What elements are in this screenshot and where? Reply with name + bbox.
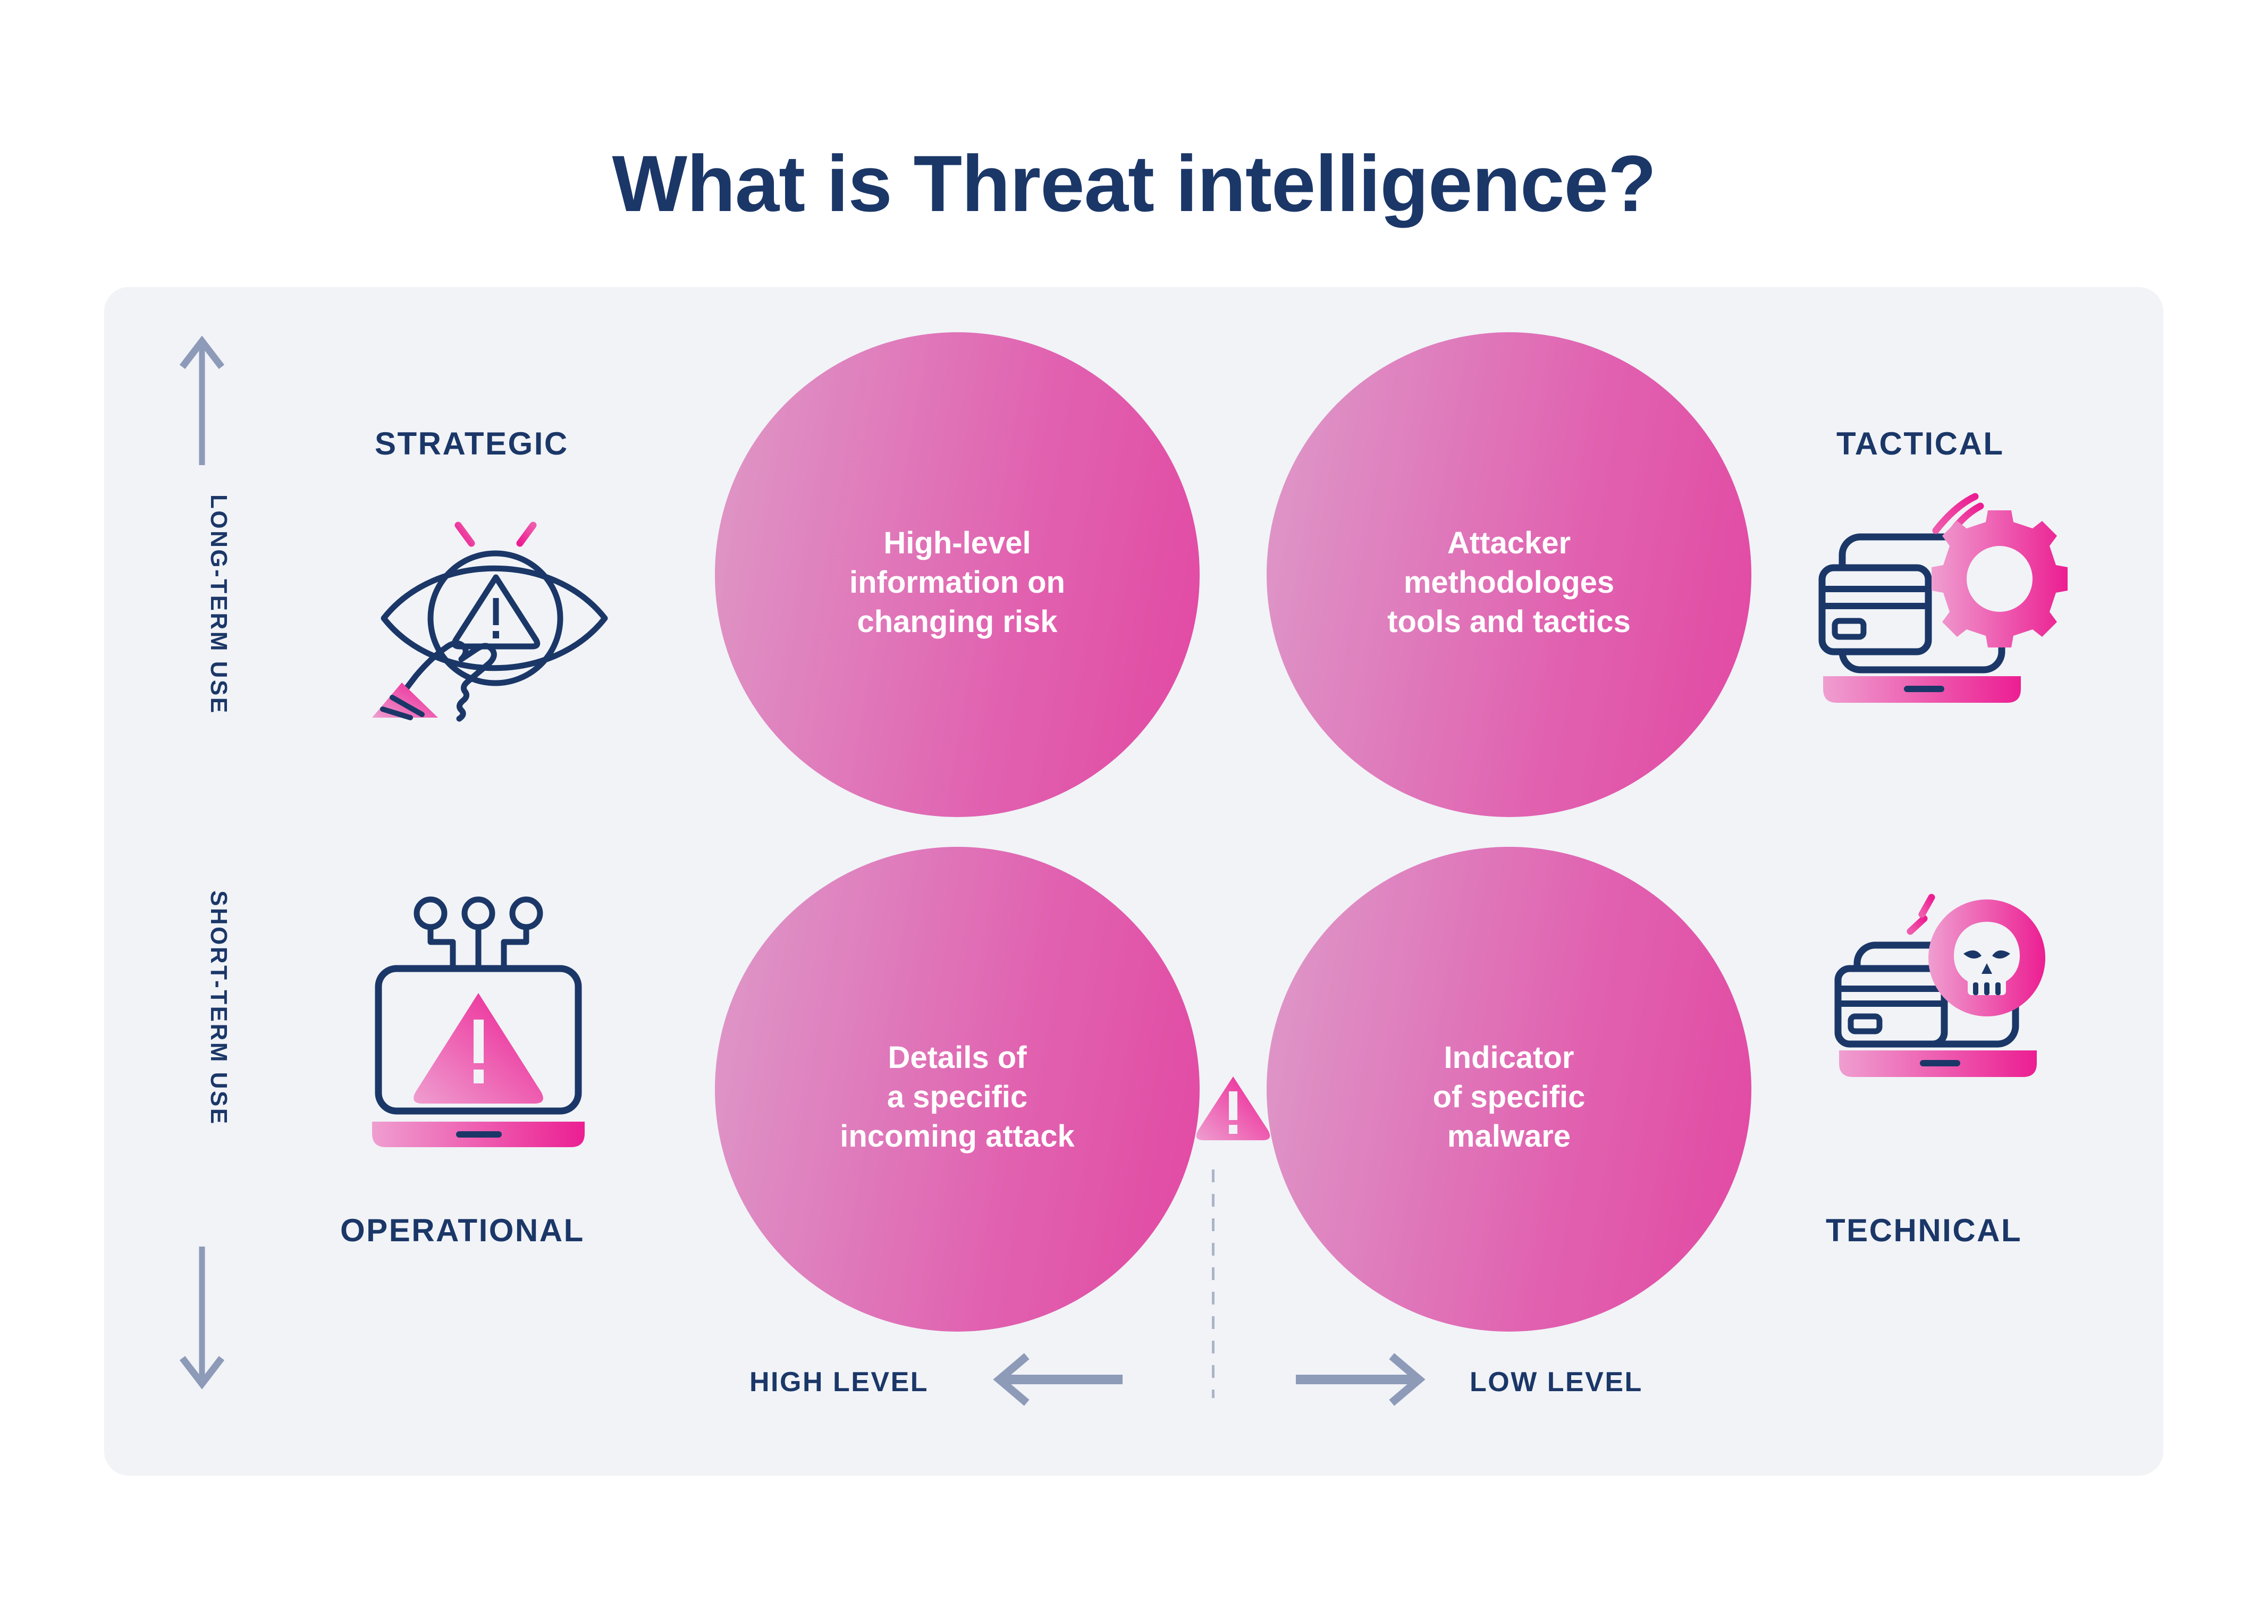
dashed-vertical-divider	[1212, 1169, 1215, 1398]
axis-label-low-level: LOW LEVEL	[1470, 1366, 1643, 1398]
quadrant-label-operational: OPERATIONAL	[340, 1212, 585, 1249]
axis-label-high-level: HIGH LEVEL	[749, 1366, 929, 1398]
warning-triangle-icon	[1183, 1055, 1284, 1156]
venn-circle-bottom-left[interactable]	[715, 847, 1200, 1332]
eye-warning-hand-icon	[367, 489, 622, 718]
venn-circle-bottom-right[interactable]	[1267, 847, 1751, 1332]
laptop-card-gear-icon	[1818, 478, 2073, 712]
infographic-page: What is Threat intelligence? LONG-TERM U…	[0, 0, 2268, 1624]
laptop-card-skull-icon	[1818, 888, 2073, 1127]
venn-circle-top-right[interactable]	[1267, 332, 1751, 817]
page-title: What is Threat intelligence?	[0, 144, 2268, 223]
axis-label-long-term-use: LONG-TERM USE	[205, 494, 232, 715]
laptop-circuit-warning-icon	[372, 893, 617, 1154]
venn-diagram: High-levelinformation onchanging risk At…	[715, 332, 1751, 1332]
quadrant-label-strategic: STRATEGIC	[375, 425, 569, 462]
axis-label-short-term-use: SHORT-TERM USE	[205, 890, 232, 1126]
quadrant-label-tactical: TACTICAL	[1836, 425, 2004, 462]
quadrant-label-technical: TECHNICAL	[1826, 1212, 2022, 1249]
venn-circle-top-left[interactable]	[715, 332, 1200, 817]
